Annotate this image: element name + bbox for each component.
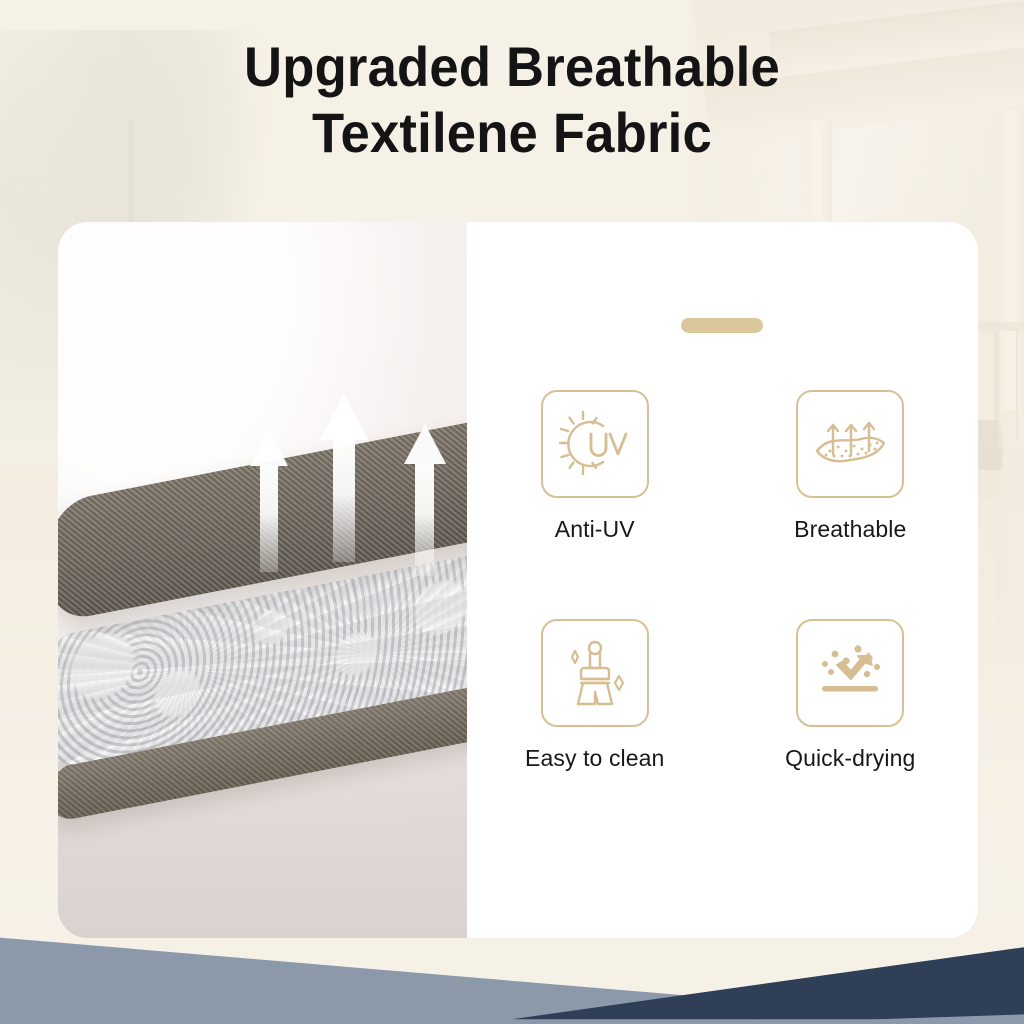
feature-label-anti-uv: Anti-UV bbox=[555, 516, 635, 543]
feature-label-quick-drying: Quick-drying bbox=[785, 745, 915, 772]
breathable-fabric-icon bbox=[811, 405, 889, 483]
infographic-stage: Upgraded Breathable Textilene Fabric bbox=[0, 0, 1024, 1024]
headline-line-2: Textilene Fabric bbox=[31, 100, 994, 166]
airflow-arrows bbox=[58, 222, 467, 938]
anti-uv-icon-box bbox=[541, 390, 649, 498]
feature-label-breathable: Breathable bbox=[794, 516, 906, 543]
gold-accent-bar bbox=[681, 318, 763, 333]
feature-grid: Anti-UV bbox=[467, 390, 978, 772]
airflow-arrow-head-3 bbox=[404, 424, 446, 464]
footer-decoration bbox=[0, 904, 1024, 1024]
easy-to-clean-icon-box bbox=[541, 619, 649, 727]
page-title: Upgraded Breathable Textilene Fabric bbox=[31, 34, 994, 165]
breathable-icon-box bbox=[796, 390, 904, 498]
feature-card: Anti-UV bbox=[58, 222, 978, 938]
airflow-arrow-stem-1 bbox=[260, 466, 278, 572]
anti-uv-sun-icon bbox=[557, 406, 633, 482]
airflow-arrow-head-2 bbox=[320, 394, 368, 440]
feature-panel: Anti-UV bbox=[467, 222, 978, 938]
cleaning-brush-icon bbox=[557, 635, 633, 711]
feature-item-easy-to-clean[interactable]: Easy to clean bbox=[467, 619, 723, 772]
quick-drying-icon-box bbox=[796, 619, 904, 727]
airflow-arrow-stem-2 bbox=[333, 440, 355, 562]
feature-label-easy-to-clean: Easy to clean bbox=[525, 745, 664, 772]
feature-item-anti-uv[interactable]: Anti-UV bbox=[467, 390, 723, 543]
feature-item-quick-drying[interactable]: Quick-drying bbox=[723, 619, 979, 772]
airflow-arrow-stem-3 bbox=[415, 464, 434, 576]
headline-line-1: Upgraded Breathable bbox=[244, 35, 780, 98]
airflow-arrow-head-1 bbox=[250, 430, 288, 466]
product-photo-panel bbox=[58, 222, 467, 938]
feature-item-breathable[interactable]: Breathable bbox=[723, 390, 979, 543]
quick-drying-icon bbox=[811, 634, 889, 712]
